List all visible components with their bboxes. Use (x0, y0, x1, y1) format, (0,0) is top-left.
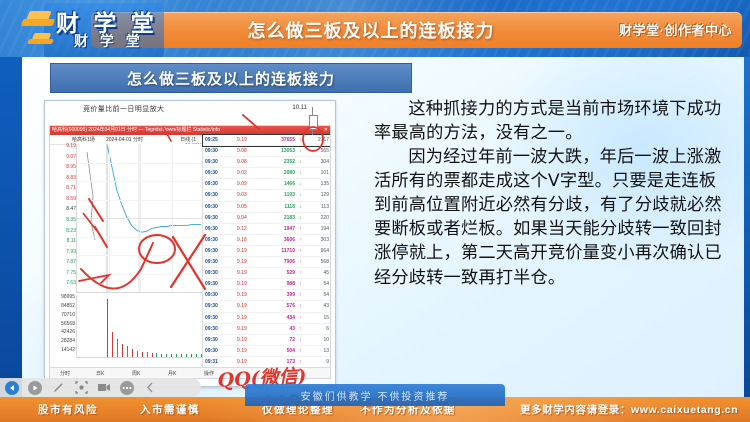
tick-price: 9.19 (237, 268, 247, 278)
volume-axis-tick: 14142 (61, 348, 75, 353)
media-toolbar[interactable] (0, 378, 201, 397)
tick-row[interactable]: 09:309.19434↑15 (203, 313, 331, 324)
tick-price: 9.19 (237, 135, 247, 145)
tick-price: 9.08 (237, 157, 247, 167)
tick-direction: ↓ (299, 146, 302, 156)
intraday-chart[interactable]: 哈高科1场 2024-04-01 分时 日线 (1 9.199.078.958.… (50, 135, 202, 378)
tick-row[interactable]: 09:309.19504↑13 (203, 346, 331, 357)
tick-volume: 37655 (265, 135, 295, 145)
graduation-cap-small-icon (28, 33, 54, 47)
tick-direction: ↓ (299, 213, 302, 223)
tick-row[interactable]: 09:309.1972↑10 (203, 335, 331, 346)
plot-gridline-h (77, 200, 203, 201)
tick-direction: ↓ (299, 190, 302, 200)
body-paragraph-0: 这种抓接力的方式是当前市场环境下成功率最高的方法，没有之一。 (374, 97, 726, 145)
tick-volume: 1193 (265, 190, 295, 200)
tick-time: 09:30 (205, 213, 218, 223)
tick-price: 9.19 (237, 257, 247, 267)
plot-gridline-h (77, 274, 203, 275)
tick-direction: ↑ (299, 257, 302, 267)
left-edge-bar (0, 57, 22, 397)
tick-time: 09:30 (205, 313, 218, 323)
tick-time: 09:30 (205, 146, 218, 156)
volume-bar (147, 352, 148, 357)
chart-window-titlebar: 哈高科(600095) 2024年04月01日 分时 — Tegrids/Dow… (50, 126, 331, 135)
tick-row[interactable]: 09:309.19988↑54 (203, 279, 331, 290)
tick-time: 09:30 (205, 179, 218, 189)
slide-body: 怎么做三板及以上的连板接力 竞价量比前一日明显放大 10.11 哈高科(6000… (22, 57, 744, 397)
plot-gridline-h (77, 255, 203, 256)
tick-volume: 1466 (265, 179, 295, 189)
tick-time: 09:25 (205, 135, 218, 145)
price-axis-tick: 7.99 (66, 250, 76, 255)
tick-direction: ↑ (299, 324, 302, 334)
tick-count: 13 (307, 346, 329, 356)
tick-row[interactable]: 09:309.051118↓113 (203, 202, 331, 213)
tick-price: 9.19 (237, 324, 247, 334)
volume-bar (156, 353, 157, 357)
volume-bar (127, 346, 128, 357)
stock-chart-screenshot[interactable]: 竞价量比前一日明显放大 10.11 哈高科(600095) 2024年04月01… (44, 100, 336, 387)
tick-direction: ↑ (299, 346, 302, 356)
price-axis-tick: 7.75 (66, 271, 76, 276)
chart-right-label: 日线 (1 (180, 136, 196, 143)
tick-price: 9.12 (237, 224, 247, 234)
price-axis-tick: 8.11 (67, 239, 76, 244)
tick-direction: ↑ (299, 301, 302, 311)
more-icon[interactable] (120, 381, 134, 395)
tick-time: 09:30 (205, 235, 218, 245)
tick-table[interactable]: 09:259.1937655↑271709:309.0813053↓56509:… (202, 135, 331, 378)
blue-notice-banner: 安徽们供教学 不供投资推荐 (245, 384, 505, 406)
tick-volume: 1947 (265, 224, 295, 234)
body-paragraph-1: 因为经过年前一波大跌，年后一波上涨激活所有的票都走成这个V字型。只要是走连板到前… (374, 145, 726, 289)
price-axis-tick: 8.47 (66, 207, 76, 212)
tick-count: 43 (307, 301, 329, 311)
volume-bar (176, 354, 177, 357)
plot-gridline-h (77, 218, 203, 219)
tick-count: 303 (307, 235, 329, 245)
tick-row[interactable]: 09:259.1937655↑2717 (203, 135, 331, 146)
chart-annotation-text: 竞价量比前一日明显放大 (83, 104, 164, 114)
pen-icon[interactable] (51, 381, 65, 395)
volume-bar (117, 339, 118, 357)
tick-count: 135 (307, 179, 329, 189)
tick-count: 101 (307, 168, 329, 178)
chart-date: 2024-04-01 分时 (106, 136, 143, 143)
price-plot-area[interactable] (76, 144, 203, 293)
header-title-bar: 怎么做三板及以上的连板接力 财学堂·创作者中心 (91, 12, 742, 48)
tick-price: 9.05 (237, 202, 247, 212)
tick-count: 2717 (307, 135, 329, 145)
chart-tab-0[interactable]: 分时 (60, 370, 70, 377)
tick-volume: 1118 (265, 202, 295, 212)
tick-time: 09:30 (205, 335, 218, 345)
plot-gridline-h (77, 163, 203, 164)
tick-volume: 11710 (265, 246, 295, 256)
tick-price: 9.19 (237, 246, 247, 256)
slide-body-text: 这种抓接力的方式是当前市场环境下成功率最高的方法，没有之一。因为经过年前一波大跌… (374, 97, 726, 290)
volume-axis-tick: 56568 (61, 322, 75, 327)
tick-direction: ↑ (299, 246, 302, 256)
tick-row[interactable]: 09:309.19576↑43 (203, 301, 331, 312)
volume-axis-tick: 84852 (61, 304, 75, 309)
tick-count: 6 (307, 324, 329, 334)
tick-row[interactable]: 09:309.19529↑45 (203, 268, 331, 279)
footer-website: 更多财学内容请登录：www.caixuetang.cn (520, 402, 738, 417)
price-axis: 9.199.078.958.838.718.598.478.358.238.11… (52, 144, 76, 292)
volume-bar (137, 351, 138, 357)
tick-volume: 529 (265, 268, 295, 278)
tick-price: 9.09 (237, 179, 247, 189)
logo-sub-text: 财 学 堂 (74, 31, 144, 51)
footer-item-2: 入市需谨慎 (140, 402, 200, 417)
chart-tab-3[interactable]: 月K (168, 370, 176, 377)
chart-window-title: 哈高科(600095) 2024年04月01日 分时 — Tegrids/Dow… (52, 127, 220, 133)
tick-count: 129 (307, 190, 329, 200)
tick-price: 9.19 (237, 346, 247, 356)
price-axis-tick: 7.87 (66, 260, 76, 265)
volume-bar (112, 332, 113, 357)
volume-bar (161, 354, 162, 358)
slide-subtitle: 怎么做三板及以上的连板接力 (127, 68, 335, 89)
tick-row[interactable]: 09:309.1943↑6 (203, 324, 331, 335)
price-axis-tick: 8.23 (66, 229, 76, 234)
volume-bar (107, 299, 108, 357)
tick-row[interactable]: 09:309.091466↓135 (203, 179, 331, 190)
tick-count: 565 (307, 146, 329, 156)
tick-row[interactable]: 09:309.031193↓129 (203, 190, 331, 201)
tick-count: 45 (307, 268, 329, 278)
volume-plot-area[interactable] (76, 295, 203, 358)
tick-row[interactable]: 09:309.197906↑568 (203, 257, 331, 268)
tick-row[interactable]: 09:309.121947↑194 (203, 224, 331, 235)
tick-count: 54 (307, 279, 329, 289)
tick-direction: ↓ (299, 168, 302, 178)
plot-gridline-h (77, 237, 203, 238)
tick-count: 568 (307, 257, 329, 267)
volume-axis-tick: 98995 (61, 295, 75, 300)
tick-price: 9.02 (237, 168, 247, 178)
tick-count: 194 (307, 224, 329, 234)
tick-direction: ↑ (299, 235, 302, 245)
back-icon[interactable] (5, 381, 19, 395)
price-axis-tick: 8.59 (66, 197, 76, 202)
tick-volume: 399 (265, 290, 295, 300)
price-axis-tick: 8.35 (66, 218, 76, 223)
volume-bar (132, 349, 133, 357)
volume-bar (191, 354, 192, 357)
chart-stock-name: 哈高科1场 (72, 136, 95, 143)
app-header: 财 学 堂 财 学 堂 怎么做三板及以上的连板接力 财学堂·创作者中心 (0, 0, 750, 57)
price-axis-tick: 8.83 (66, 176, 76, 181)
tick-direction: ↑ (299, 290, 302, 300)
slide-stage: 财 学 堂 财 学 堂 怎么做三板及以上的连板接力 财学堂·创作者中心 怎么做三… (0, 0, 750, 422)
chart-tab-2[interactable]: 周K (132, 370, 140, 377)
tick-volume: 2080 (265, 168, 295, 178)
volume-bar (196, 354, 197, 357)
tick-direction: ↑ (299, 279, 302, 289)
tick-direction: ↑ (299, 135, 302, 145)
candle-icon (305, 107, 321, 135)
tick-count: 113 (307, 202, 329, 212)
tick-time: 09:30 (205, 190, 218, 200)
tick-count: 15 (307, 313, 329, 323)
tick-direction: ↑ (299, 224, 302, 234)
tick-time: 09:30 (205, 257, 218, 267)
tick-price: 9.19 (237, 279, 247, 289)
tick-price: 9.19 (237, 335, 247, 345)
tick-row[interactable]: 09:309.022080↓101 (203, 168, 331, 179)
brand-logo: 财 学 堂 财 学 堂 (22, 3, 182, 55)
tick-price: 9.04 (237, 213, 247, 223)
tick-time: 09:30 (205, 246, 218, 256)
tick-volume: 43 (265, 324, 295, 334)
tick-row[interactable]: 09:309.1911710↑664 (203, 246, 331, 257)
tick-time: 09:30 (205, 324, 218, 334)
tick-price: 9.18 (237, 235, 247, 245)
tick-direction: ↑ (299, 313, 302, 323)
price-axis-tick: 8.95 (66, 165, 76, 170)
tick-count: 664 (307, 246, 329, 256)
tick-row[interactable]: 09:309.19399↑54 (203, 290, 331, 301)
chart-tab-1[interactable]: 日K (96, 370, 104, 377)
tick-direction: ↓ (299, 202, 302, 212)
tick-volume: 3606 (265, 235, 295, 245)
volume-bar (171, 354, 172, 357)
volume-bar (152, 353, 153, 357)
tick-direction: ↓ (299, 157, 302, 167)
tick-time: 09:30 (205, 168, 218, 178)
volume-axis-tick: 42426 (61, 330, 75, 335)
price-axis-tick: 7.63 (66, 281, 76, 286)
tick-price: 9.19 (237, 313, 247, 323)
tick-direction: ↑ (299, 335, 302, 345)
tick-volume: 576 (265, 301, 295, 311)
tick-volume: 504 (265, 346, 295, 356)
tick-row[interactable]: 09:309.082352↓304 (203, 157, 331, 168)
tick-volume: 2183 (265, 213, 295, 223)
volume-axis: 98995848527071056568424262828414142 (50, 295, 75, 357)
slide-subtitle-plate: 怎么做三板及以上的连板接力 (50, 63, 412, 93)
volume-axis-tick: 70710 (61, 313, 75, 318)
tick-volume: 2352 (265, 157, 295, 167)
volume-bar (181, 354, 182, 357)
tick-count: 220 (307, 213, 329, 223)
tick-direction: ↓ (299, 179, 302, 189)
volume-bar (142, 352, 143, 357)
tick-price: 9.19 (237, 290, 247, 300)
collapse-icon[interactable] (143, 381, 157, 395)
tick-row[interactable]: 09:309.183606↑303 (203, 235, 331, 246)
tick-price: 9.03 (237, 190, 247, 200)
tick-price: 9.08 (237, 146, 247, 156)
right-edge-bar (744, 57, 750, 397)
tick-time: 09:30 (205, 279, 218, 289)
tick-volume: 13053 (265, 146, 295, 156)
tick-volume: 434 (265, 313, 295, 323)
tick-time: 09:30 (205, 301, 218, 311)
volume-bar (122, 344, 123, 357)
price-axis-tick: 8.71 (66, 186, 76, 191)
volume-bar (186, 354, 187, 357)
tick-volume: 72 (265, 335, 295, 345)
tick-time: 09:30 (205, 202, 218, 212)
volume-axis-tick: 28284 (61, 339, 75, 344)
tick-count: 54 (307, 290, 329, 300)
footer-item-1: 股市有风险 (38, 402, 98, 417)
crop-icon[interactable] (74, 381, 88, 395)
creator-center-label: 财学堂·创作者中心 (619, 20, 732, 39)
graduation-cap-icon (22, 11, 56, 29)
tick-direction: ↑ (299, 268, 302, 278)
tick-price: 9.19 (237, 301, 247, 311)
tick-volume: 7906 (265, 257, 295, 267)
chart-tab-4[interactable]: 操作 (204, 370, 214, 377)
plot-gridline-h (77, 181, 203, 182)
tick-time: 09:30 (205, 290, 218, 300)
tick-time: 09:30 (205, 268, 218, 278)
price-axis-tick: 9.07 (66, 155, 76, 160)
tick-volume: 988 (265, 279, 295, 289)
tick-row[interactable]: 09:309.0813053↓565 (203, 146, 331, 157)
play-icon[interactable] (28, 381, 42, 395)
tick-count: 10 (307, 335, 329, 345)
tick-time: 09:30 (205, 157, 218, 167)
video-icon[interactable] (97, 381, 111, 395)
chart-window[interactable]: 哈高科(600095) 2024年04月01日 分时 — Tegrids/Dow… (49, 125, 331, 379)
tick-time: 09:30 (205, 346, 218, 356)
tick-row[interactable]: 09:309.042183↓220 (203, 213, 331, 224)
volume-bar (166, 354, 167, 357)
tick-count: 304 (307, 157, 329, 167)
price-axis-tick: 9.19 (66, 144, 76, 149)
tick-time: 09:30 (205, 224, 218, 234)
